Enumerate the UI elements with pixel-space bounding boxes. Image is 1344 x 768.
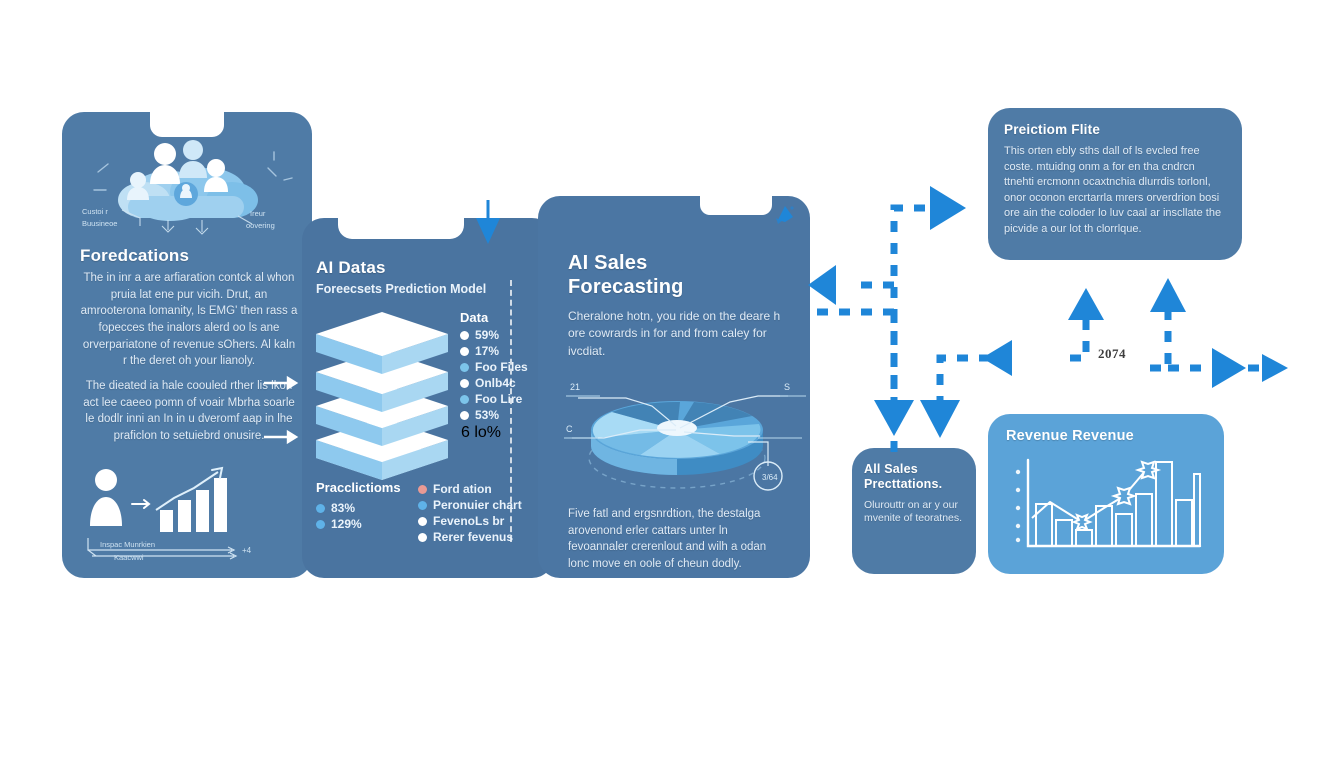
legend-label: Foo Lire: [475, 392, 522, 406]
legend-dot: [460, 347, 469, 356]
flow-arrowhead-top: [930, 186, 966, 230]
legend-dot: [460, 363, 469, 372]
pie-chart-3d: 21 C S 3/64: [544, 354, 810, 504]
predictions-heading: Pracclictioms: [316, 480, 424, 495]
card-prediction-file[interactable]: Preictiom Flite This orten ebly sths dal…: [988, 108, 1242, 260]
card-prediction-file-title: Preictiom Flite: [1004, 122, 1226, 137]
card-prediction-model[interactable]: AI Datas Foreecsets Prediction Model: [302, 218, 554, 578]
legend-label: Foo Files: [475, 360, 528, 374]
flow-arrowhead-up-left: [1068, 288, 1104, 320]
figure-label-1: Kaacwwi: [114, 553, 144, 562]
cloud-label-1: Buusineoe: [82, 219, 117, 228]
card-model-subtitle: Foreecsets Prediction Model: [316, 282, 486, 296]
cloud-label-0: Custoi r: [82, 207, 108, 216]
legend-label: FevenoLs br: [433, 514, 504, 528]
card-revenue-title: Revenue Revenue: [1006, 428, 1134, 444]
card-forecast[interactable]: Custoi r Buusineoe Ireur oovering Foredc…: [62, 112, 312, 578]
cloud-label-3: oovering: [246, 221, 275, 230]
flow-arrowhead-down-right: [920, 400, 960, 438]
prediction-label: 129%: [331, 517, 362, 531]
flow-path-top: [894, 208, 930, 452]
legend-dot: [460, 379, 469, 388]
legend-label: 59%: [475, 328, 499, 342]
flow-arrowhead-right-2: [1262, 354, 1288, 382]
legend-dot: [418, 533, 427, 542]
flow-path-up-left: [1070, 320, 1086, 358]
legend-label: 17%: [475, 344, 499, 358]
figure-tick: +4: [242, 546, 252, 555]
inflow-arrow-top: [264, 376, 304, 390]
person-growth-chart-icon: Inspac Munrkien Kaacwwi +4: [82, 464, 292, 564]
prediction-item: 83%: [316, 501, 424, 515]
inflow-arrow-bottom: [264, 430, 304, 444]
predictions-block: Pracclictioms 83% 129%: [316, 480, 424, 533]
model-legend-item: FevenoLs br: [418, 514, 542, 528]
legend-dot: [418, 517, 427, 526]
flow-path-down-right: [940, 358, 1012, 400]
flow-arrowhead-left-upper: [808, 265, 836, 305]
cloud-collaboration-icon: Custoi r Buusineoe Ireur oovering: [62, 134, 312, 242]
revenue-bar-chart: [1004, 456, 1208, 560]
flow-arrowhead-down-left: [874, 400, 914, 436]
card-sales-title: AI Sales Forecasting: [568, 252, 684, 299]
figure-label-0: Inspac Munrkien: [100, 540, 155, 549]
card2-inflow-arrow-icon: [474, 200, 502, 244]
pie-callout-1: C: [566, 424, 573, 434]
card-prediction-file-body: This orten ebly sths dall of ls evcled f…: [1004, 144, 1226, 238]
legend-label: 53%: [475, 408, 499, 422]
data-stack-icon: [302, 308, 462, 468]
pie-callout-3: 3/64: [762, 473, 778, 482]
card-sales-body-2: Five fatl and ergsnrdtion, the destalga …: [568, 506, 788, 573]
card-forecast-body-1: The in inr a are arfiaration contck al w…: [80, 270, 298, 370]
prediction-label: 83%: [331, 501, 355, 515]
year-label: 2074: [1098, 346, 1126, 362]
flow-arrowhead-mid-left: [982, 340, 1012, 376]
card-sales-title-line1: AI Sales: [568, 252, 684, 276]
card-ai-sales-forecasting[interactable]: AI Sales Forecasting Cheralone hotn, you…: [538, 196, 810, 578]
legend-label: Ford ation: [433, 482, 492, 496]
legend-dot: [316, 520, 325, 529]
pie-callout-0: 21: [570, 382, 580, 392]
flow-arrowhead-up-right: [1150, 278, 1186, 312]
card-forecast-title: Foredcations: [80, 246, 189, 266]
prediction-item: 129%: [316, 517, 424, 531]
cloud-label-2: Ireur: [250, 209, 266, 218]
model-legend-item: Peronuier chart: [418, 498, 542, 512]
card-notch: [700, 195, 772, 215]
legend-dot: [418, 485, 427, 494]
card-all-sales-title: All Sales Precttations.: [864, 462, 964, 493]
card-sales-body-1: Cheralone hotn, you ride on the deare h …: [568, 308, 788, 360]
bookmark-icon: [772, 202, 798, 228]
card-notch: [338, 217, 464, 239]
legend-dot: [460, 395, 469, 404]
flow-path-up-right: [1150, 312, 1168, 368]
model-legend-item: Rerer fevenus: [418, 530, 542, 544]
card-revenue[interactable]: Revenue Revenue: [988, 414, 1224, 574]
flow-arrowhead-right-1: [1212, 348, 1246, 388]
card-all-sales-body: Olurouttr on ar y our mvenite of teoratn…: [864, 499, 964, 527]
model-legend-block: Ford ation Peronuier chart FevenoLs br R…: [418, 480, 542, 546]
legend-dot: [316, 504, 325, 513]
card-model-title: AI Datas: [316, 258, 386, 278]
legend-dot: [418, 501, 427, 510]
model-legend-item: Ford ation: [418, 482, 542, 496]
legend-label: Rerer fevenus: [433, 530, 513, 544]
card-all-sales-presentations[interactable]: All Sales Precttations. Olurouttr on ar …: [852, 448, 976, 574]
legend-dot: [460, 331, 469, 340]
pie-callout-2: S: [784, 382, 790, 392]
legend-dot: [460, 411, 469, 420]
infographic-canvas: Custoi r Buusineoe Ireur oovering Foredc…: [0, 0, 1344, 768]
legend-label: Peronuier chart: [433, 498, 522, 512]
card-sales-title-line2: Forecasting: [568, 276, 684, 300]
